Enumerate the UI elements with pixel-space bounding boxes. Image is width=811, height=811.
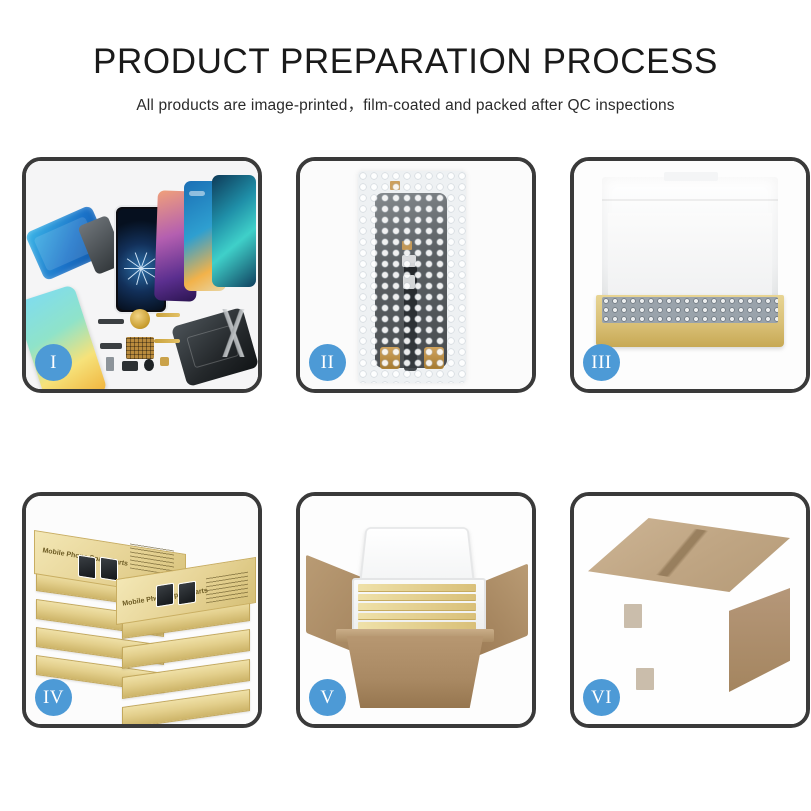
carton-tape-lower bbox=[636, 668, 654, 690]
carton-body bbox=[339, 636, 491, 708]
teal-wave-phone bbox=[212, 175, 256, 287]
open-inner-box bbox=[588, 177, 792, 359]
part-gold-speaker bbox=[130, 309, 150, 329]
page-subtitle: All products are image-printed，film-coat… bbox=[0, 93, 811, 115]
carton-tape-upper bbox=[624, 604, 642, 628]
carton-side-face bbox=[729, 588, 790, 692]
part-ic-array bbox=[126, 337, 154, 359]
step-badge-3: III bbox=[583, 344, 620, 381]
part-vibration-motor bbox=[100, 343, 122, 349]
part-flex-cable-b bbox=[154, 339, 180, 343]
sealed-carton bbox=[584, 518, 796, 708]
product-preparation-page: PRODUCT PREPARATION PROCESS All products… bbox=[0, 0, 811, 811]
part-camera-module bbox=[122, 361, 138, 371]
box-window-b1 bbox=[156, 583, 174, 608]
process-step-2: II bbox=[296, 157, 536, 393]
tweezers-tool bbox=[214, 309, 254, 357]
process-step-3: III bbox=[570, 157, 810, 393]
box-foam-sheet bbox=[608, 213, 772, 299]
gold-boxes-in-foam bbox=[358, 584, 476, 630]
part-gold-chip bbox=[160, 357, 169, 366]
box-lid-tab bbox=[664, 172, 718, 181]
step-badge-2: II bbox=[309, 344, 346, 381]
part-connector-strip bbox=[98, 319, 124, 324]
process-step-4: Mobile Phone Spare Parts Mobile Phone Sp… bbox=[22, 492, 262, 728]
step-badge-5: V bbox=[309, 679, 346, 716]
process-step-grid: I II bbox=[22, 157, 790, 728]
bubble-texture bbox=[358, 171, 466, 383]
process-step-5: V bbox=[296, 492, 536, 728]
part-sim-tray bbox=[106, 357, 114, 371]
part-flex-cable-a bbox=[156, 313, 180, 317]
process-step-1: I bbox=[22, 157, 262, 393]
part-earpiece bbox=[144, 359, 154, 371]
box-window-a2 bbox=[100, 557, 118, 582]
box-window-a1 bbox=[78, 555, 96, 580]
step-badge-4: IV bbox=[35, 679, 72, 716]
process-step-6: VI bbox=[570, 492, 810, 728]
step-badge-1: I bbox=[35, 344, 72, 381]
box-bubble-wrapped-contents bbox=[602, 297, 778, 323]
page-header: PRODUCT PREPARATION PROCESS All products… bbox=[0, 0, 811, 115]
step-badge-6: VI bbox=[583, 679, 620, 716]
bubble-wrap-bag bbox=[358, 171, 466, 383]
box-window-b2 bbox=[178, 581, 196, 606]
page-title: PRODUCT PREPARATION PROCESS bbox=[0, 44, 811, 81]
